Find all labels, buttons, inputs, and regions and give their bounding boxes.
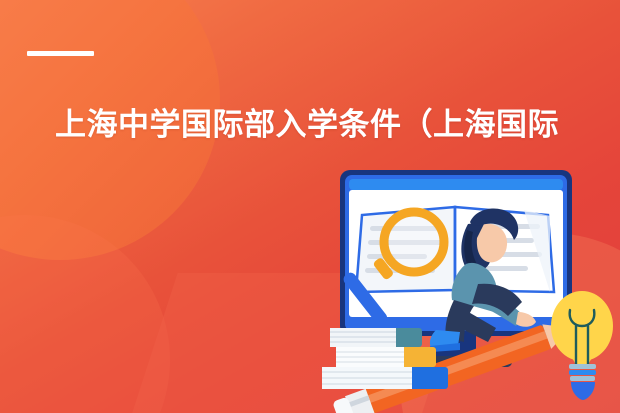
page-title: 上海中学国际部入学条件（上海国际 [55, 103, 620, 147]
cover-image: 上海中学国际部入学条件（上海国际 [0, 0, 620, 413]
light-bulb-icon [551, 291, 613, 400]
title-accent-rule [27, 51, 94, 56]
stacked-books [322, 328, 448, 389]
decorative-circle-bottom-left [0, 215, 170, 413]
online-learning-illustration [318, 160, 620, 413]
